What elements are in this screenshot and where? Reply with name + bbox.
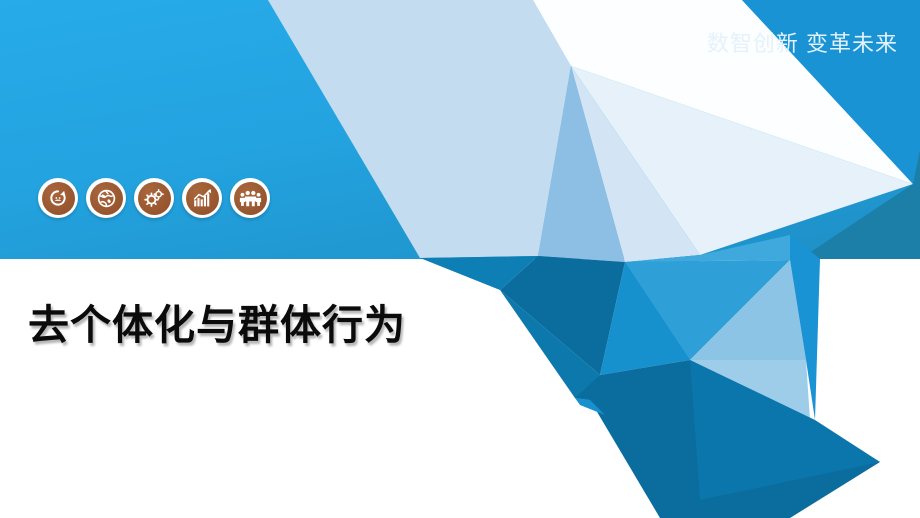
- icon-badge-people-group[interactable]: [230, 178, 270, 218]
- header-tagline: 数智创新 变革未来: [707, 26, 898, 58]
- feature-icon-row: [38, 178, 270, 218]
- icon-disc: [42, 182, 75, 215]
- icon-disc: [186, 182, 219, 215]
- icon-disc: [138, 182, 171, 215]
- icon-badge-globe[interactable]: [86, 178, 126, 218]
- icon-disc: [234, 182, 267, 215]
- icon-badge-bar-chart-growth[interactable]: [182, 178, 222, 218]
- bar-chart-growth-icon: [192, 188, 213, 209]
- poly-pale-upper-left-fill: [268, 0, 571, 258]
- slide-title: 去个体化与群体行为: [28, 291, 406, 351]
- presentation-slide: 数智创新 变革未来: [0, 0, 920, 518]
- icon-badge-refresh-cycle[interactable]: [38, 178, 78, 218]
- people-group-icon: [239, 188, 262, 209]
- icon-badge-gears[interactable]: [134, 178, 174, 218]
- refresh-cycle-icon: [48, 188, 68, 208]
- icon-disc: [90, 182, 123, 215]
- globe-icon: [96, 188, 117, 209]
- low-poly-artwork: [0, 0, 920, 518]
- gears-icon: [143, 187, 165, 209]
